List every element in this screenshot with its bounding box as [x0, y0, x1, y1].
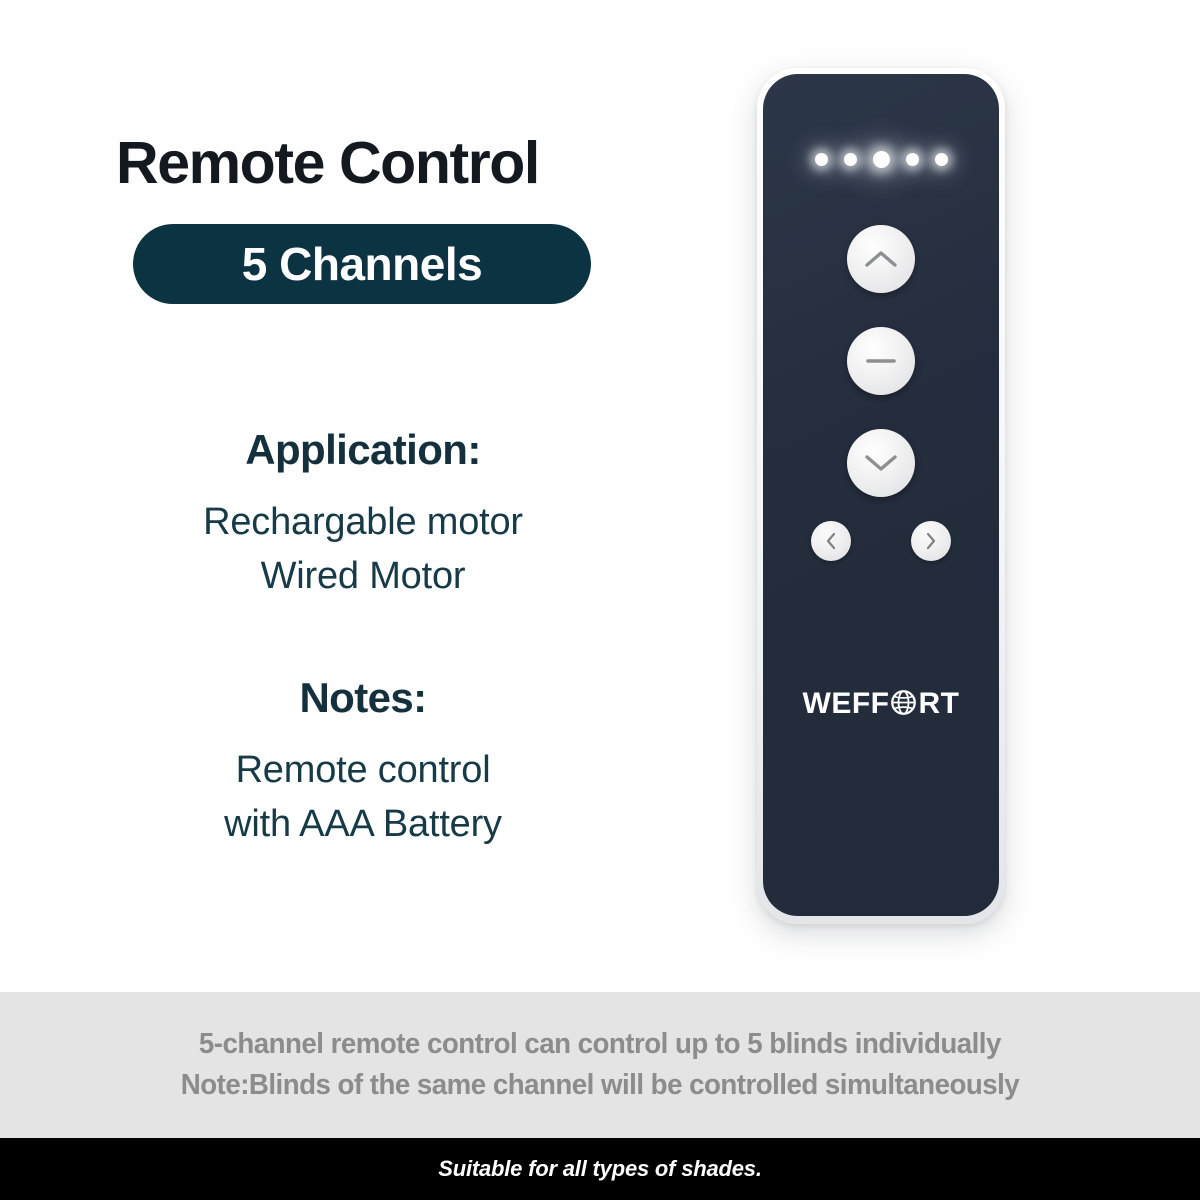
- minus-icon: [865, 357, 897, 365]
- brand-logo: WEFF RT: [763, 688, 999, 720]
- chevron-left-icon: [824, 531, 838, 551]
- note-line-2: Note:Blinds of the same channel will be …: [181, 1065, 1019, 1106]
- footer-text: Suitable for all types of shades.: [438, 1156, 762, 1182]
- brand-text-before: WEFF: [803, 689, 890, 719]
- led-indicator-row: [763, 146, 999, 172]
- remote-control-image: WEFF RT: [720, 0, 1200, 992]
- chevron-up-icon: [864, 249, 898, 269]
- notes-heading: Notes:: [0, 676, 720, 720]
- application-line-1: Rechargable motor: [6, 496, 720, 550]
- notes-line-2: with AAA Battery: [6, 798, 720, 852]
- application-body: Rechargable motor Wired Motor: [0, 496, 720, 604]
- chevron-down-icon: [864, 453, 898, 473]
- application-line-2: Wired Motor: [6, 550, 720, 604]
- page-title: Remote Control: [116, 134, 539, 193]
- notes-body: Remote control with AAA Battery: [0, 744, 720, 852]
- up-button[interactable]: [847, 225, 915, 293]
- chevron-right-icon: [924, 531, 938, 551]
- main-stage: Remote Control 5 Channels Application: R…: [0, 0, 1200, 992]
- info-column: Remote Control 5 Channels Application: R…: [0, 0, 720, 992]
- stop-button[interactable]: [847, 327, 915, 395]
- led-4-icon: [906, 153, 919, 166]
- remote-body: WEFF RT: [763, 74, 999, 916]
- globe-icon: [890, 689, 917, 721]
- next-channel-button[interactable]: [911, 521, 951, 561]
- footer-band: Suitable for all types of shades.: [0, 1138, 1200, 1200]
- led-1-icon: [815, 153, 828, 166]
- channel-badge: 5 Channels: [133, 224, 591, 304]
- remote-bezel: WEFF RT: [757, 68, 1005, 924]
- channel-badge-label: 5 Channels: [242, 241, 482, 287]
- brand-text-after: RT: [918, 689, 959, 719]
- application-heading: Application:: [0, 428, 720, 472]
- notes-section: Notes: Remote control with AAA Battery: [0, 676, 720, 852]
- led-5-icon: [935, 153, 948, 166]
- application-section: Application: Rechargable motor Wired Mot…: [0, 428, 720, 604]
- previous-channel-button[interactable]: [811, 521, 851, 561]
- led-2-icon: [844, 153, 857, 166]
- note-line-1: 5-channel remote control can control up …: [199, 1024, 1001, 1065]
- down-button[interactable]: [847, 429, 915, 497]
- note-band: 5-channel remote control can control up …: [0, 992, 1200, 1138]
- notes-line-1: Remote control: [6, 744, 720, 798]
- led-3-icon: [873, 151, 890, 168]
